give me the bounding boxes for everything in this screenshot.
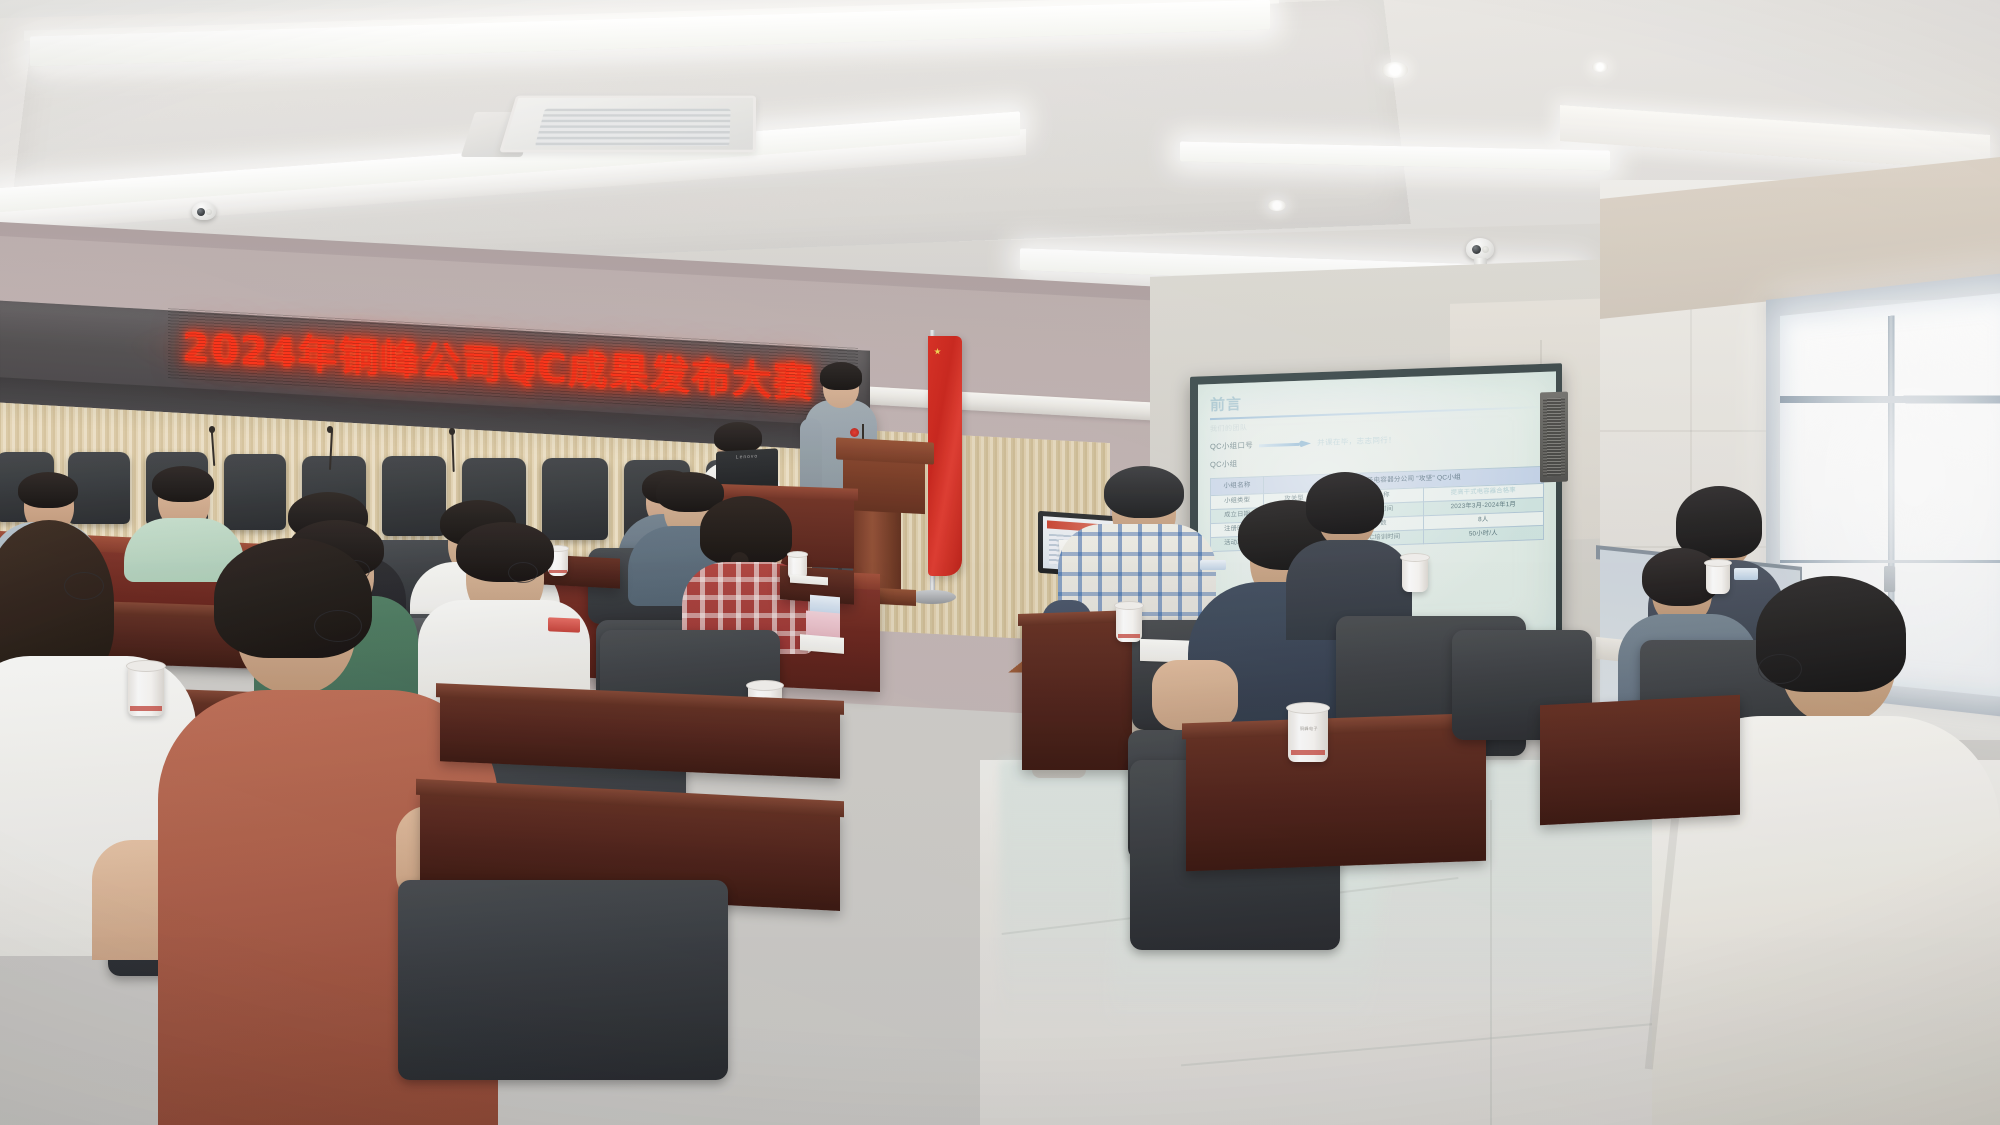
downlight-2 bbox=[1382, 62, 1408, 78]
red-folder bbox=[548, 617, 580, 632]
audience-hair bbox=[1306, 472, 1384, 534]
glasses-icon bbox=[1758, 654, 1802, 684]
cell: 50小时/人 bbox=[1423, 525, 1543, 543]
desk-right-front bbox=[1022, 620, 1132, 770]
audience-hair bbox=[1676, 486, 1762, 558]
slide-title: 前言 bbox=[1210, 382, 1544, 415]
chair-back bbox=[542, 458, 608, 540]
podium-body bbox=[843, 456, 925, 514]
glasses-icon bbox=[508, 562, 538, 583]
dome-camera-left bbox=[192, 202, 216, 220]
audience-hair bbox=[152, 466, 214, 502]
wall-speaker-grille bbox=[1543, 398, 1565, 477]
chair-back bbox=[382, 456, 446, 536]
paper-cup-rim bbox=[126, 660, 166, 672]
paper-cup-rim bbox=[1704, 559, 1732, 567]
downlight-4 bbox=[1592, 62, 1608, 72]
slide-group-label: QC小组 bbox=[1210, 458, 1237, 470]
desk-microphone-head bbox=[449, 428, 455, 435]
window-handle bbox=[1884, 566, 1895, 592]
audience-hair bbox=[18, 472, 78, 508]
table-header-label: 小组名称 bbox=[1211, 477, 1264, 496]
desk-microphone-head bbox=[209, 426, 215, 433]
floor-tile-seam-3 bbox=[1490, 800, 1492, 1125]
operator-hair bbox=[714, 422, 762, 452]
window-transom bbox=[1780, 396, 2000, 404]
glasses-icon bbox=[314, 610, 362, 642]
glasses-icon bbox=[64, 572, 104, 600]
desk-right-bottom bbox=[1186, 721, 1486, 871]
paper-cup-rim bbox=[1400, 553, 1430, 562]
paper-cup-rim bbox=[746, 680, 784, 691]
paper-cup-rim bbox=[1114, 601, 1144, 610]
desk-microphone-head bbox=[327, 426, 333, 433]
conference-room-photo: 2024年铜峰公司QC成果发布大赛 前言 我们的团队 QC小组口号 并课在毕，志… bbox=[0, 0, 2000, 1125]
audience-hair bbox=[1104, 466, 1184, 518]
presenter-hair bbox=[820, 362, 862, 390]
paper-cup-stripe bbox=[549, 570, 567, 573]
window-glazing-line bbox=[1780, 560, 2000, 563]
audience-arm bbox=[1152, 660, 1238, 730]
slide-slogan-text: 并课在毕，志志同行！ bbox=[1317, 434, 1396, 448]
paper-cup-rim bbox=[1286, 702, 1330, 714]
air-conditioner-grille bbox=[535, 109, 731, 146]
paper-cup-stripe bbox=[130, 706, 162, 711]
audience-hair bbox=[456, 522, 554, 582]
paper-cup-stripe bbox=[1118, 634, 1140, 638]
dome-camera-right bbox=[1466, 238, 1494, 260]
small-box bbox=[1200, 560, 1226, 570]
paper-cup-rim bbox=[787, 551, 808, 558]
desk-right-far bbox=[1540, 695, 1740, 825]
small-box bbox=[1734, 568, 1758, 580]
paper-cup-print: 铜峰电子 bbox=[1290, 726, 1328, 732]
slide-slogan-label: QC小组口号 bbox=[1210, 440, 1253, 453]
downlight-3 bbox=[1268, 200, 1286, 211]
chair-foreground bbox=[398, 880, 728, 1080]
slide-group-row: QC小组 bbox=[1210, 447, 1544, 470]
arrow-right-icon bbox=[1259, 439, 1311, 449]
chair-back bbox=[224, 454, 286, 530]
tile-seam-1 bbox=[1600, 430, 1776, 432]
paper-cup-stripe bbox=[1291, 750, 1325, 755]
presenter-badge bbox=[850, 428, 859, 437]
